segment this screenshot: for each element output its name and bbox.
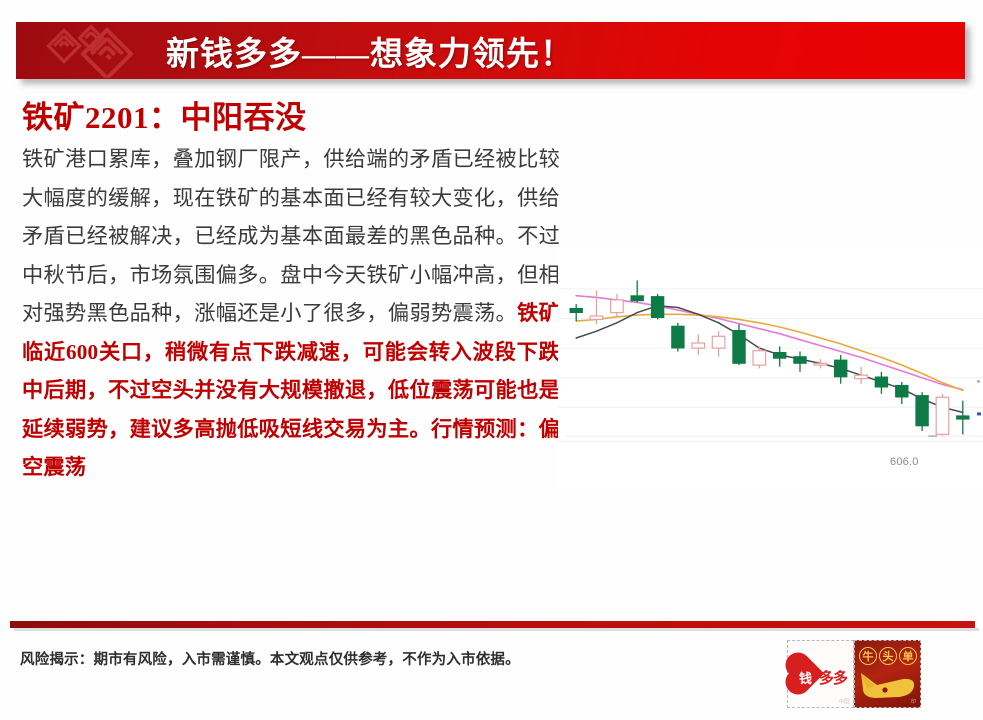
header-banner: 新钱多多——想象力领先！ xyxy=(16,22,965,79)
slide-page: 新钱多多——想象力领先！ 铁矿2201：中阳吞没 铁矿港口累库，叠加钢厂限产，供… xyxy=(0,0,983,720)
diamond-lattice-logo xyxy=(34,24,154,78)
bull-char-2: 单 xyxy=(899,647,917,665)
stamp-heart-char: 钱 xyxy=(799,668,812,687)
chart-candles xyxy=(570,281,969,437)
candlestick-chart xyxy=(558,248,983,493)
niutoudan-stamp: 牛 头 单 印 xyxy=(854,640,921,708)
stamp-right-mini: 印 xyxy=(911,698,916,705)
bull-chars-row: 牛 头 单 xyxy=(859,647,917,665)
price-label: 606.0 xyxy=(890,456,919,468)
bull-char-0: 牛 xyxy=(859,647,877,665)
article-body-highlight: 铁矿临近600关口，稍微有点下跌减速，可能会转入波段下跌中后期，不过空头并没有大… xyxy=(22,301,560,479)
footer-logos: 钱 多多 中国 牛 头 单 印 xyxy=(787,640,922,708)
article-body-plain: 铁矿港口累库，叠加钢厂限产，供给端的矛盾已经被比较大幅度的缓解，现在铁矿的基本面… xyxy=(22,147,560,325)
header-title: 新钱多多——想象力领先！ xyxy=(166,27,574,75)
footer-divider xyxy=(10,621,975,628)
bull-char-1: 头 xyxy=(879,647,897,665)
stamp-left-text: 多多 xyxy=(819,667,847,688)
bull-icon xyxy=(857,665,917,703)
chart-canvas xyxy=(558,248,983,493)
article-title: 铁矿2201：中阳吞没 xyxy=(22,92,307,137)
qianduoduo-stamp: 钱 多多 中国 xyxy=(787,640,854,708)
article-body: 铁矿港口累库，叠加钢厂限产，供给端的矛盾已经被比较大幅度的缓解，现在铁矿的基本面… xyxy=(22,140,560,487)
disclaimer-text: 风险揭示：期市有风险，入市需谨慎。本文观点仅供参考，不作为入市依据。 xyxy=(20,648,520,669)
stamp-left-mini: 中国 xyxy=(839,698,849,705)
